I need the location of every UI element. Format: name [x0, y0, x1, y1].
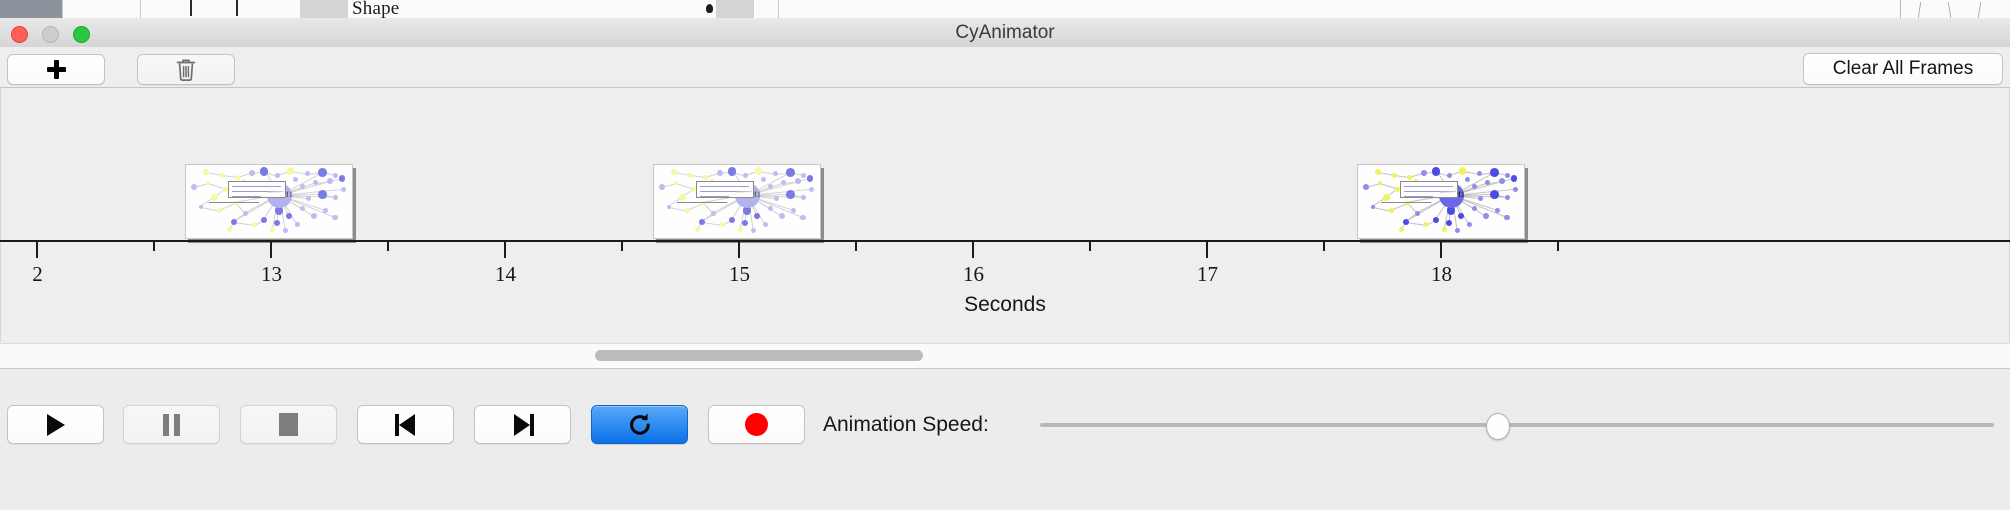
network-node [1378, 181, 1382, 185]
ruler-tick-minor [387, 242, 389, 251]
network-node [688, 173, 693, 178]
network-node [667, 205, 671, 209]
network-node [1458, 213, 1464, 219]
network-node [1407, 175, 1412, 180]
skip-forward-button[interactable] [474, 405, 571, 444]
network-node [679, 194, 686, 201]
network-node [1499, 178, 1505, 184]
network-tooltip-line [700, 186, 749, 187]
network-node [1490, 190, 1499, 199]
background-hatch [1978, 2, 1981, 18]
timeline-scrollbar-thumb[interactable] [595, 350, 923, 361]
delete-frame-button[interactable] [137, 54, 235, 85]
play-icon [47, 414, 65, 436]
background-tab-active [0, 0, 62, 18]
network-node [801, 173, 806, 178]
network-tooltip-line [232, 186, 281, 187]
ruler-tick-label: 18 [1431, 262, 1452, 287]
network-caption [677, 202, 727, 203]
background-divider [62, 0, 63, 18]
network-node [295, 222, 300, 227]
timeline-scrollbar[interactable] [0, 343, 2010, 369]
network-node [1421, 170, 1427, 176]
network-node [305, 171, 310, 176]
network-node [742, 220, 748, 226]
network-node [231, 219, 237, 225]
network-node [275, 173, 280, 178]
network-node [318, 168, 327, 177]
network-node [220, 173, 225, 178]
background-cell [300, 0, 348, 18]
network-node [720, 222, 725, 227]
add-frame-button[interactable] [7, 54, 105, 85]
network-node [311, 213, 317, 219]
network-node [729, 217, 735, 223]
network-node [274, 220, 280, 226]
network-node [203, 169, 209, 175]
network-node [1403, 219, 1409, 225]
network-node [699, 219, 705, 225]
network-node [217, 208, 222, 213]
background-divider [778, 0, 779, 18]
ruler-tick-label: 15 [729, 262, 750, 287]
transport-bar: Animation Speed: [0, 368, 2010, 510]
animation-speed-label: Animation Speed: [823, 405, 989, 444]
network-node [1490, 168, 1499, 177]
toolbar: Clear All Frames [0, 47, 2010, 88]
network-node [1375, 169, 1381, 175]
network-node [1371, 205, 1375, 209]
network-node [659, 184, 665, 190]
stop-icon [279, 413, 298, 436]
network-node [287, 167, 295, 175]
network-node [755, 167, 763, 175]
network-node [318, 190, 327, 199]
network-node [738, 227, 743, 232]
animation-speed-slider[interactable] [1040, 405, 1994, 444]
network-tooltip-line [1404, 196, 1434, 197]
background-shape-label: Shape [352, 0, 399, 19]
network-node [333, 173, 338, 178]
ruler-tick-minor [1557, 242, 1559, 251]
ruler-tick-label: 14 [495, 262, 516, 287]
ruler-tick-label: 2 [32, 262, 43, 287]
network-node [703, 175, 708, 180]
network-node [283, 228, 288, 233]
ruler-tick-label: 13 [261, 262, 282, 287]
network-node [313, 180, 318, 185]
record-button[interactable] [708, 405, 805, 444]
network-node [1465, 177, 1470, 182]
network-tooltip [228, 181, 286, 198]
network-node [809, 187, 814, 192]
network-node [800, 215, 806, 221]
network-node [300, 184, 305, 189]
pause-button[interactable] [123, 405, 220, 444]
skip-back-button[interactable] [357, 405, 454, 444]
timeline-panel[interactable]: MCM1MCM1MCM1 2131415161718 Seconds [0, 88, 2010, 342]
network-node [243, 211, 248, 216]
stop-button[interactable] [240, 405, 337, 444]
skip-forward-icon [512, 414, 534, 436]
background-hatch [1948, 2, 1951, 18]
network-node [1505, 195, 1510, 200]
network-node [1392, 173, 1397, 178]
network-node [1472, 184, 1477, 189]
loop-button[interactable] [591, 405, 688, 444]
ruler-tick-major [1440, 242, 1442, 258]
loop-icon [627, 412, 653, 438]
network-node [1424, 222, 1429, 227]
frame-thumbnail[interactable]: MCM1 [185, 164, 353, 239]
network-node [252, 222, 257, 227]
ruler-tick-major [1206, 242, 1208, 258]
network-node [671, 169, 677, 175]
pause-icon [163, 414, 180, 436]
slider-track [1040, 423, 1994, 427]
network-node [1472, 206, 1477, 211]
background-cell [1900, 0, 2010, 18]
network-node [1495, 208, 1500, 213]
network-node [1455, 228, 1460, 233]
network-node [323, 208, 328, 213]
network-node [1447, 173, 1452, 178]
network-tooltip-line [1404, 186, 1453, 187]
network-tooltip [696, 181, 754, 198]
network-node [227, 227, 232, 232]
network-node [199, 205, 203, 209]
network-node [1442, 227, 1447, 232]
network-node [270, 227, 275, 232]
network-node [1511, 175, 1518, 182]
title-bar[interactable]: CyAnimator [0, 18, 2010, 48]
ruler-tick-minor [1323, 242, 1325, 251]
frame-thumbnail[interactable]: MCM1 [653, 164, 821, 239]
record-icon [745, 413, 768, 436]
network-node [339, 175, 346, 182]
ruler-tick-label: 17 [1197, 262, 1218, 287]
ruler-tick-major [738, 242, 740, 258]
network-node [795, 178, 801, 184]
play-button[interactable] [7, 405, 104, 444]
network-caption [209, 202, 259, 203]
network-node [781, 180, 786, 185]
network-node [773, 171, 778, 176]
ruler-tick-major [36, 242, 38, 258]
skip-back-icon [395, 414, 417, 436]
network-node [717, 170, 723, 176]
clear-all-frames-button[interactable]: Clear All Frames [1803, 53, 2003, 85]
ruler-axis-line [0, 240, 2010, 242]
plus-icon [47, 60, 66, 79]
network-node [761, 177, 766, 182]
network-node [751, 228, 756, 233]
network-node [235, 175, 240, 180]
network-node [695, 227, 700, 232]
network-node [786, 190, 795, 199]
clear-all-frames-label: Clear All Frames [1833, 58, 1973, 80]
network-node [1399, 227, 1404, 232]
network-node [211, 194, 218, 201]
network-node [261, 217, 267, 223]
ruler-tick-minor [1089, 242, 1091, 251]
network-node [1459, 167, 1467, 175]
trash-icon [175, 57, 197, 82]
network-node [807, 175, 814, 182]
ruler-tick-major [270, 242, 272, 258]
background-column-edge [236, 0, 238, 16]
axis-title: Seconds [0, 293, 2010, 317]
network-node [1389, 208, 1394, 213]
network-node [206, 181, 210, 185]
network-node [1483, 213, 1489, 219]
network-node [1363, 184, 1369, 190]
network-node [779, 213, 785, 219]
network-node [763, 222, 768, 227]
network-caption [1381, 202, 1431, 203]
background-column-edge [190, 0, 192, 16]
cyanimator-window: Shape CyAnimator [0, 0, 2010, 510]
network-node [685, 208, 690, 213]
network-node [293, 177, 298, 182]
network-node [191, 184, 197, 190]
network-node [1485, 180, 1490, 185]
network-tooltip [1400, 181, 1458, 198]
network-node [306, 196, 311, 201]
network-tooltip-line [700, 196, 730, 197]
network-node [1477, 171, 1482, 176]
network-node [1478, 196, 1483, 201]
network-node [249, 170, 255, 176]
ruler-tick-major [504, 242, 506, 258]
network-node [1467, 222, 1472, 227]
network-node [327, 178, 333, 184]
network-node [786, 168, 795, 177]
ruler-tick-minor [621, 242, 623, 251]
timeline-frame[interactable]: MCM1 [653, 164, 821, 239]
network-node [768, 184, 773, 189]
ruler-tick-label: 16 [963, 262, 984, 287]
background-hatch [1918, 2, 1921, 18]
timeline-frame[interactable]: MCM1 [185, 164, 353, 239]
network-node [791, 208, 796, 213]
ruler-tick-minor [153, 242, 155, 251]
background-window-strip: Shape [0, 0, 2010, 19]
network-node [774, 196, 779, 201]
network-node [801, 195, 806, 200]
network-node [1505, 173, 1510, 178]
network-node [1513, 187, 1518, 192]
network-node [1383, 194, 1390, 201]
network-node [1504, 215, 1510, 221]
network-node [754, 213, 760, 219]
network-node [743, 173, 748, 178]
network-node [1433, 217, 1439, 223]
network-node [300, 206, 305, 211]
background-cell [716, 0, 754, 18]
ruler-tick-major [972, 242, 974, 258]
window-title: CyAnimator [0, 18, 2010, 47]
network-node [1446, 220, 1452, 226]
frame-thumbnail[interactable]: MCM1 [1357, 164, 1525, 239]
network-node [1415, 211, 1420, 216]
network-node [711, 211, 716, 216]
network-node [768, 206, 773, 211]
background-marker-icon [706, 4, 713, 13]
slider-thumb[interactable] [1486, 413, 1510, 440]
network-node [286, 213, 292, 219]
network-node [341, 187, 346, 192]
network-tooltip-line [232, 196, 262, 197]
network-node [674, 181, 678, 185]
network-node [332, 215, 338, 221]
ruler-tick-minor [855, 242, 857, 251]
network-node [333, 195, 338, 200]
background-divider [140, 0, 141, 18]
timeline-frame[interactable]: MCM1 [1357, 164, 1525, 239]
